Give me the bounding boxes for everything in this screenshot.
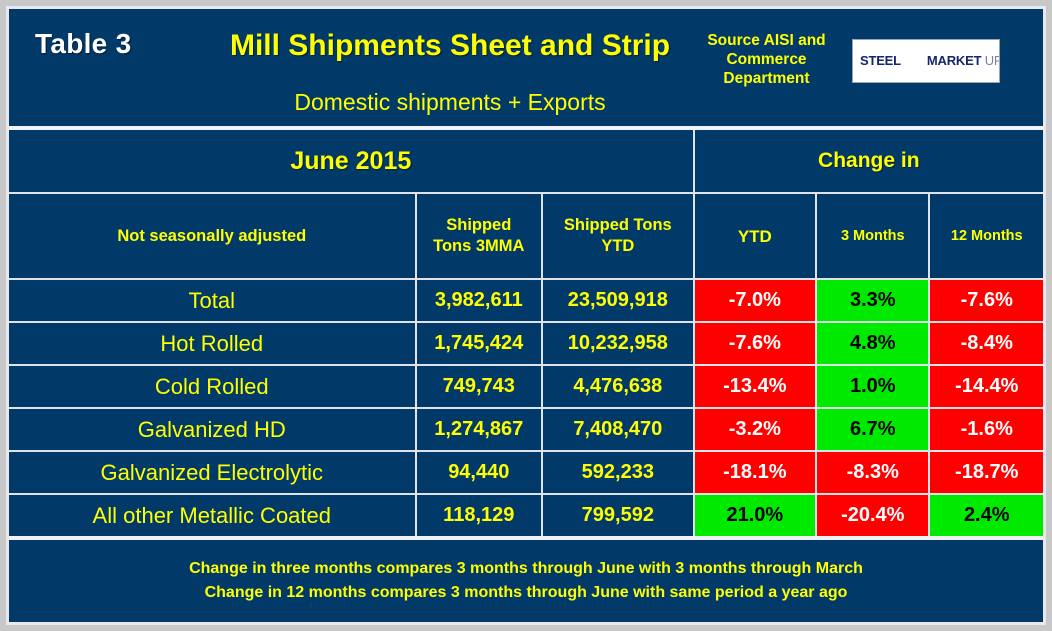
footnote-line-2: Change in 12 months compares 3 months th… <box>205 581 848 605</box>
cell-change-ytd: -7.6% <box>695 323 817 366</box>
cell-change-3-months: 4.8% <box>817 323 930 366</box>
row-label: Galvanized Electrolytic <box>9 452 417 495</box>
steel-market-update-logo: STEELMARKET UPDATE <box>852 39 1000 83</box>
cell-change-12-months: -1.6% <box>930 409 1043 452</box>
title-band: Table 3 Mill Shipments Sheet and Strip D… <box>9 9 1043 130</box>
cell-shipped-tons-ytd: 4,476,638 <box>543 366 695 409</box>
cell-change-12-months: -7.6% <box>930 280 1043 323</box>
cell-change-12-months: 2.4% <box>930 495 1043 536</box>
cell-change-3-months: 3.3% <box>817 280 930 323</box>
logo-text-update: UPDATE <box>985 53 1000 68</box>
column-header-shipped-ytd: Shipped Tons YTD <box>543 194 695 280</box>
column-header-shipped-ytd-line2: YTD <box>601 237 634 255</box>
logo-wordmark: STEELMARKET UPDATE <box>860 53 1000 68</box>
cell-shipped-tons-ytd: 10,232,958 <box>543 323 695 366</box>
cell-shipped-tons-ytd: 7,408,470 <box>543 409 695 452</box>
source-note: Source AISI and Commerce Department <box>704 31 829 88</box>
table-group-header-row: June 2015 Change in <box>9 130 1043 194</box>
cell-change-3-months: 1.0% <box>817 366 930 409</box>
column-header-category: Not seasonally adjusted <box>9 194 417 280</box>
slide-canvas: Table 3 Mill Shipments Sheet and Strip D… <box>0 0 1052 631</box>
row-label: Cold Rolled <box>9 366 417 409</box>
cell-change-3-months: -8.3% <box>817 452 930 495</box>
cell-change-ytd: -7.0% <box>695 280 817 323</box>
column-header-shipped-ytd-line1: Shipped Tons <box>564 216 672 234</box>
table-column-header-row: Not seasonally adjusted Shipped Tons 3MM… <box>9 194 1043 280</box>
cell-change-ytd: 21.0% <box>695 495 817 536</box>
column-header-shipped-3mma-line2: Tons 3MMA <box>433 237 524 255</box>
group-header-period: June 2015 <box>9 130 695 194</box>
column-header-shipped-3mma-line1: Shipped <box>446 216 511 234</box>
cell-shipped-tons-3mma: 94,440 <box>417 452 543 495</box>
cell-change-ytd: -18.1% <box>695 452 817 495</box>
table-row: Hot Rolled1,745,42410,232,958-7.6%4.8%-8… <box>9 323 1043 366</box>
footnote-block: Change in three months compares 3 months… <box>9 536 1043 622</box>
table-row: Cold Rolled749,7434,476,638-13.4%1.0%-14… <box>9 366 1043 409</box>
column-header-ytd-change: YTD <box>695 194 817 280</box>
footnote-line-1: Change in three months compares 3 months… <box>189 557 863 581</box>
row-label: All other Metallic Coated <box>9 495 417 536</box>
shipments-table: June 2015 Change in Not seasonally adjus… <box>9 130 1043 536</box>
table-row: Total3,982,61123,509,918-7.0%3.3%-7.6% <box>9 280 1043 323</box>
cell-shipped-tons-ytd: 592,233 <box>543 452 695 495</box>
cell-change-12-months: -8.4% <box>930 323 1043 366</box>
table-body: Total3,982,61123,509,918-7.0%3.3%-7.6%Ho… <box>9 280 1043 536</box>
row-label: Galvanized HD <box>9 409 417 452</box>
column-header-3-months: 3 Months <box>817 194 930 280</box>
column-header-12-months: 12 Months <box>930 194 1043 280</box>
logo-text-steel: STEEL <box>860 53 901 68</box>
cell-shipped-tons-ytd: 23,509,918 <box>543 280 695 323</box>
table-frame: Table 3 Mill Shipments Sheet and Strip D… <box>6 6 1046 625</box>
cell-change-ytd: -3.2% <box>695 409 817 452</box>
cell-shipped-tons-3mma: 749,743 <box>417 366 543 409</box>
cell-change-12-months: -14.4% <box>930 366 1043 409</box>
row-label: Hot Rolled <box>9 323 417 366</box>
group-header-change: Change in <box>695 130 1043 194</box>
logo-text-market: MARKET <box>927 53 981 68</box>
cell-shipped-tons-3mma: 3,982,611 <box>417 280 543 323</box>
row-label: Total <box>9 280 417 323</box>
cell-change-3-months: 6.7% <box>817 409 930 452</box>
cell-shipped-tons-3mma: 118,129 <box>417 495 543 536</box>
page-subtitle: Domestic shipments + Exports <box>205 89 695 116</box>
cell-change-3-months: -20.4% <box>817 495 930 536</box>
cell-change-ytd: -13.4% <box>695 366 817 409</box>
table-row: All other Metallic Coated118,129799,5922… <box>9 495 1043 536</box>
cell-shipped-tons-ytd: 799,592 <box>543 495 695 536</box>
page-title: Mill Shipments Sheet and Strip <box>205 29 695 63</box>
table-row: Galvanized Electrolytic94,440592,233-18.… <box>9 452 1043 495</box>
table-row: Galvanized HD1,274,8677,408,470-3.2%6.7%… <box>9 409 1043 452</box>
cell-shipped-tons-3mma: 1,745,424 <box>417 323 543 366</box>
cell-shipped-tons-3mma: 1,274,867 <box>417 409 543 452</box>
column-header-shipped-3mma: Shipped Tons 3MMA <box>417 194 543 280</box>
table-number-label: Table 3 <box>35 28 132 60</box>
cell-change-12-months: -18.7% <box>930 452 1043 495</box>
